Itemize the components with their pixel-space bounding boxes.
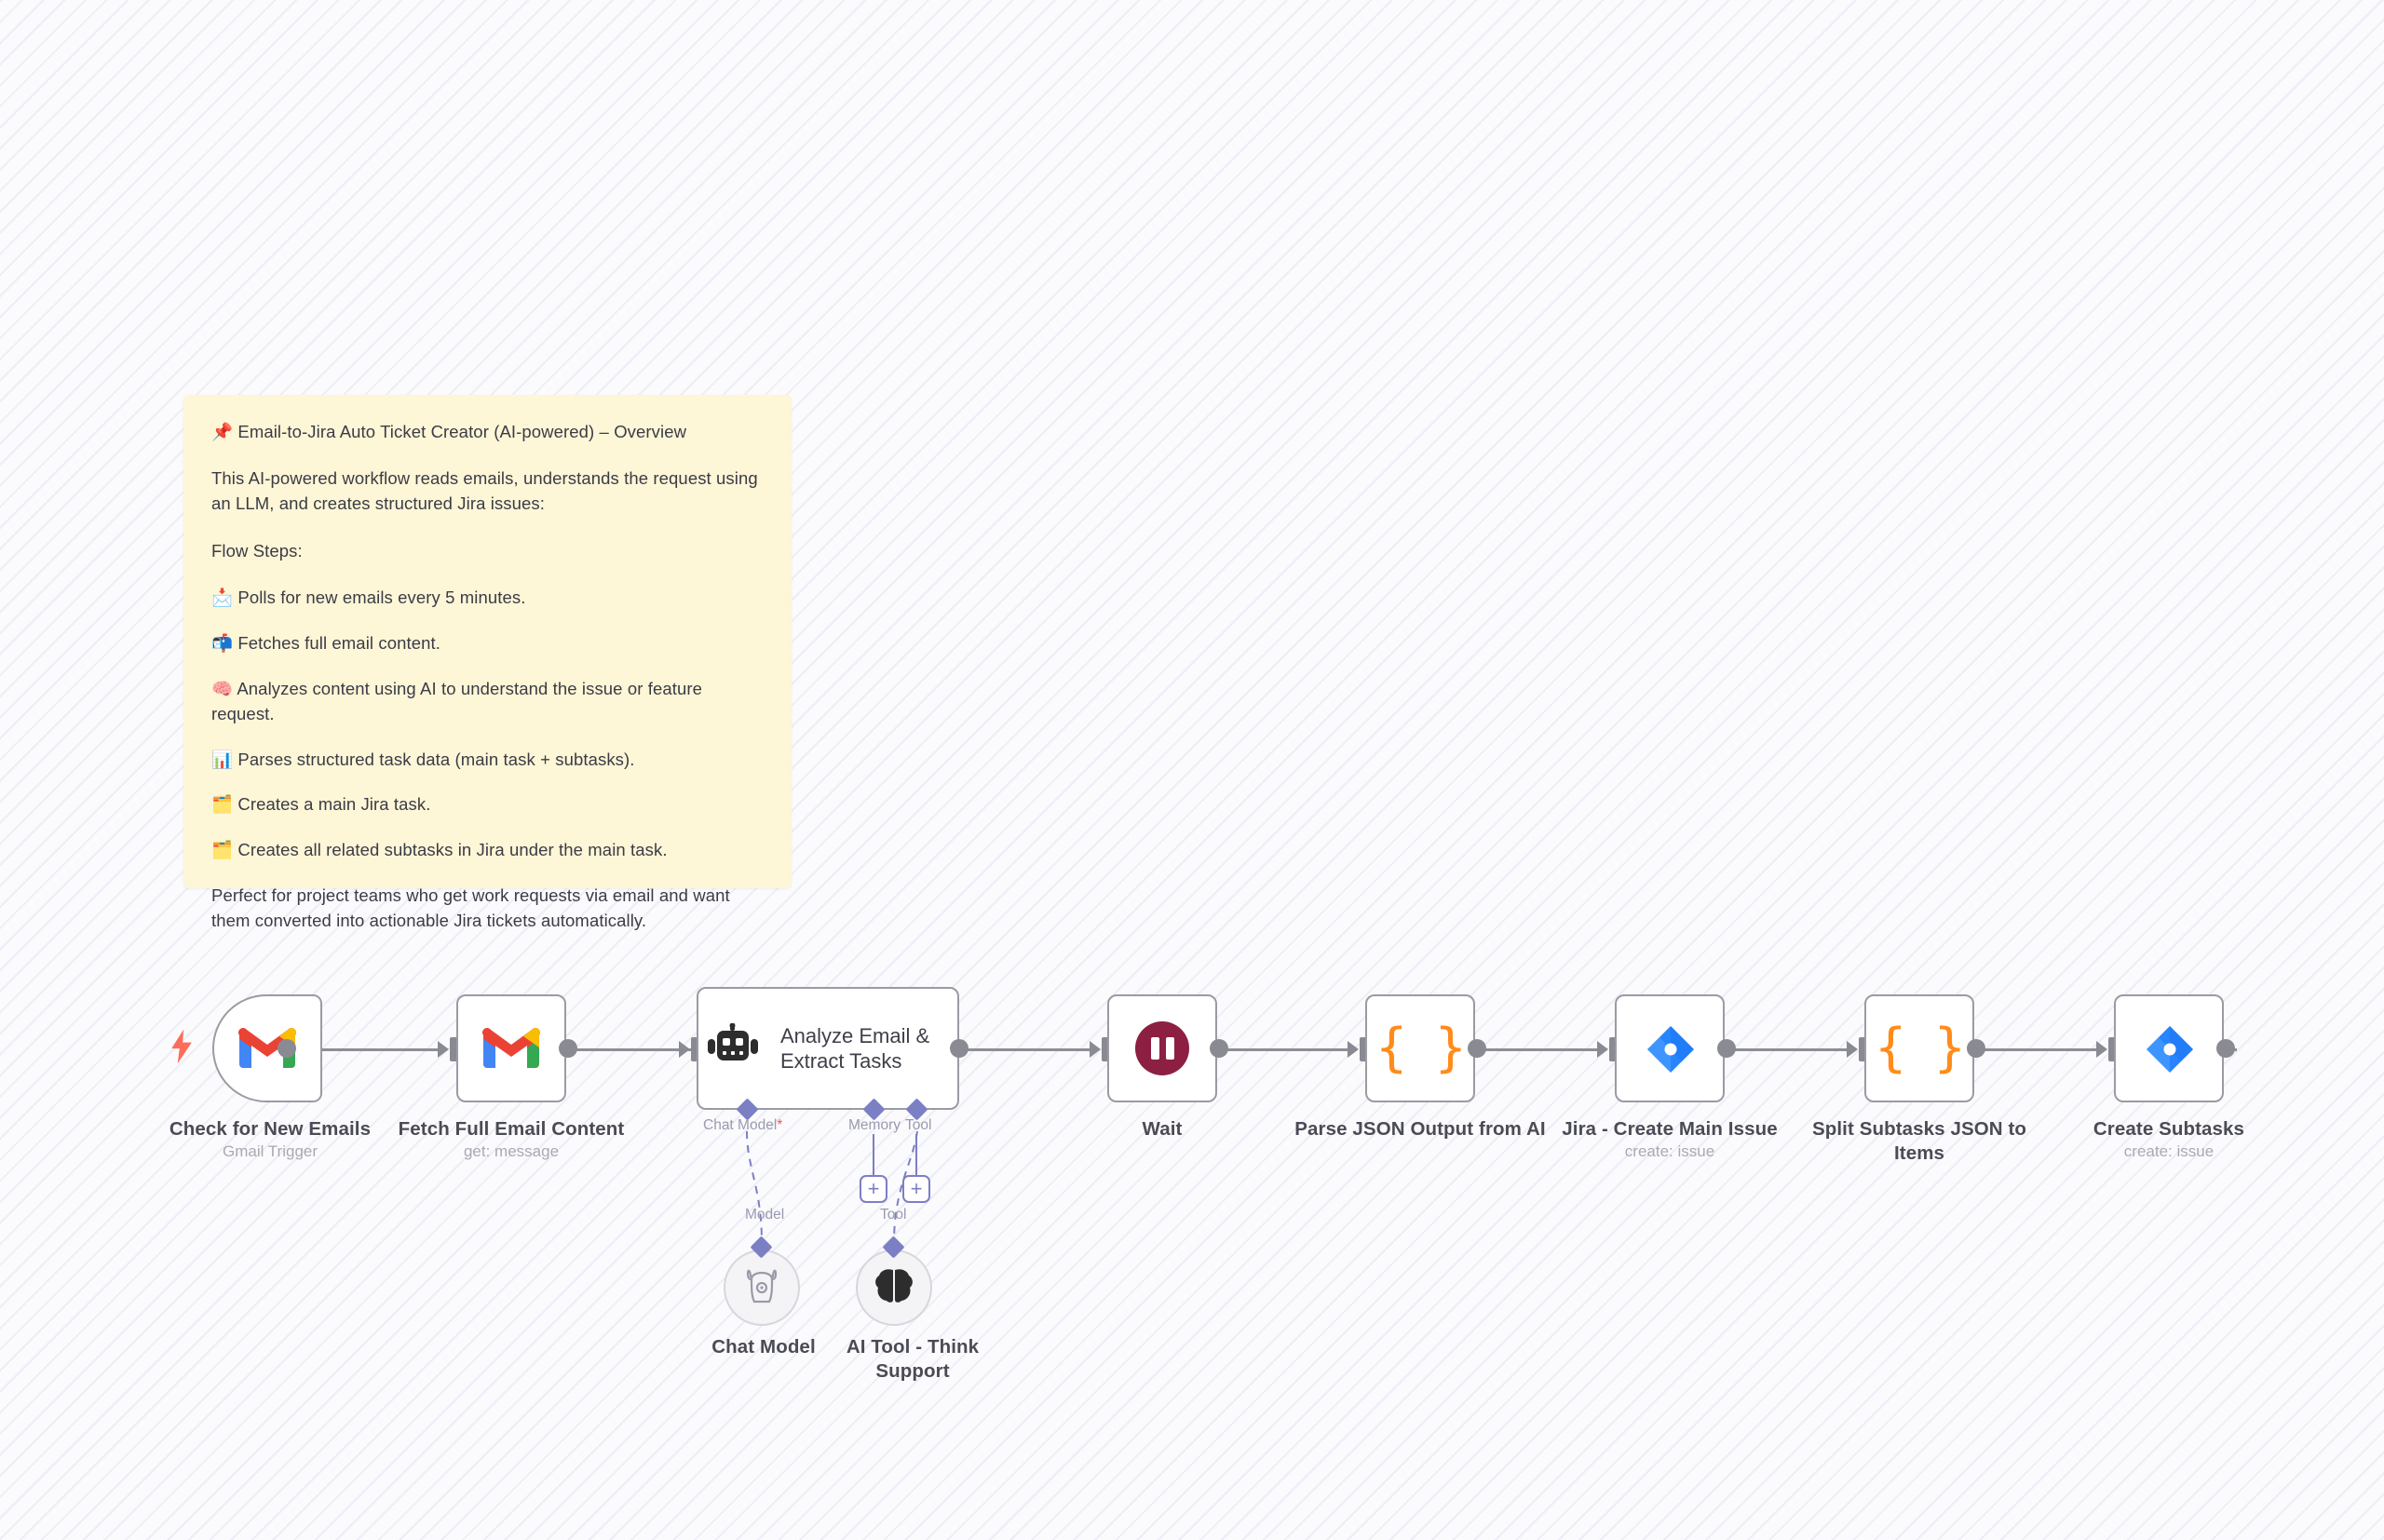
sticky-note-title: 📌 Email-to-Jira Auto Ticket Creator (AI-…	[211, 421, 764, 444]
input-arrow-icon	[1597, 1041, 1608, 1058]
agent-title: Analyze Email & Extract Tasks	[780, 1023, 948, 1074]
chat-model-connection	[708, 1131, 838, 1252]
node-label: Check for New Emails	[140, 1117, 400, 1141]
node-body-ai-agent[interactable]: Analyze Email & Extract Tasks	[697, 987, 959, 1110]
lightning-bolt-icon	[169, 1029, 194, 1062]
node-body-code[interactable]: { }	[1864, 994, 1974, 1102]
sticky-note-step: 📬 Fetches full email content.	[211, 631, 764, 656]
node-body-wait[interactable]	[1107, 994, 1217, 1102]
ai-tool-connection	[875, 1131, 959, 1252]
workflow-canvas[interactable]: 📌 Email-to-Jira Auto Ticket Creator (AI-…	[0, 0, 2384, 1540]
robot-icon	[708, 1023, 760, 1074]
input-arrow-icon	[2096, 1041, 2107, 1058]
node-body-jira[interactable]	[1615, 994, 1725, 1102]
node-body-jira[interactable]	[2114, 994, 2224, 1102]
ai-tool-port-label: Tool	[880, 1207, 906, 1223]
sticky-note-steps-heading: Flow Steps:	[211, 539, 764, 564]
node-body-gmail-trigger[interactable]	[212, 994, 322, 1102]
gmail-icon	[482, 1027, 540, 1070]
node-body-gmail[interactable]	[456, 994, 566, 1102]
connection-line	[575, 1048, 691, 1051]
chat-model-port-label: Model	[745, 1207, 784, 1223]
node-label: Fetch Full Email Content	[381, 1117, 642, 1141]
node-sublabel: Gmail Trigger	[140, 1142, 400, 1161]
sticky-note-outro: Perfect for project teams who get work r…	[211, 884, 764, 934]
output-connector[interactable]	[950, 1039, 968, 1058]
connection-line	[1718, 1048, 1849, 1051]
sticky-note-intro: This AI-powered workflow reads emails, u…	[211, 466, 764, 517]
sticky-note-step: 🗂️ Creates a main Jira task.	[211, 792, 764, 817]
connection-line	[1968, 1048, 2098, 1051]
node-body-code[interactable]: { }	[1365, 994, 1475, 1102]
connection-line	[967, 1048, 1091, 1051]
sticky-note-step: 📊 Parses structured task data (main task…	[211, 748, 764, 773]
connection-line	[1217, 1048, 1349, 1051]
output-connector[interactable]	[1717, 1039, 1736, 1058]
input-arrow-icon	[1847, 1041, 1858, 1058]
node-label: Split Subtasks JSON to Items	[1789, 1117, 2050, 1165]
sticky-note-step: 🧠 Analyzes content using AI to understan…	[211, 677, 764, 727]
output-connector[interactable]	[1210, 1039, 1228, 1058]
jira-icon	[2145, 1024, 2193, 1073]
sticky-note[interactable]: 📌 Email-to-Jira Auto Ticket Creator (AI-…	[183, 395, 792, 888]
output-connector[interactable]	[278, 1039, 296, 1058]
output-connector[interactable]	[1468, 1039, 1486, 1058]
node-body-chat-model[interactable]	[724, 1250, 800, 1326]
node-label: Create Subtasks	[2039, 1117, 2299, 1141]
memory-connection	[873, 1134, 874, 1175]
input-arrow-icon	[1090, 1041, 1101, 1058]
input-arrow-icon	[438, 1041, 449, 1058]
sticky-note-step: 📩 Polls for new emails every 5 minutes.	[211, 586, 764, 611]
code-braces-icon: { }	[1875, 1022, 1963, 1074]
pause-icon	[1135, 1021, 1189, 1075]
input-arrow-icon	[1348, 1041, 1359, 1058]
node-label: Parse JSON Output from AI	[1290, 1117, 1551, 1141]
node-label: AI Tool - Think Support	[819, 1335, 1006, 1383]
brain-icon	[874, 1267, 914, 1309]
output-connector[interactable]	[559, 1039, 577, 1058]
jira-icon	[1646, 1024, 1694, 1073]
output-connector[interactable]	[1967, 1039, 1985, 1058]
sticky-note-step: 🗂️ Creates all related subtasks in Jira …	[211, 838, 764, 863]
code-braces-icon: { }	[1375, 1022, 1464, 1074]
node-sublabel: get: message	[381, 1142, 642, 1161]
node-sublabel: create: issue	[1539, 1142, 1800, 1161]
connection-line	[1469, 1048, 1599, 1051]
node-label: Wait	[1032, 1117, 1293, 1141]
node-body-ai-tool[interactable]	[856, 1250, 932, 1326]
output-connector[interactable]	[2216, 1039, 2235, 1058]
node-sublabel: create: issue	[2039, 1142, 2299, 1161]
ollama-llama-icon	[744, 1266, 779, 1310]
node-label: Jira - Create Main Issue	[1539, 1117, 1800, 1141]
